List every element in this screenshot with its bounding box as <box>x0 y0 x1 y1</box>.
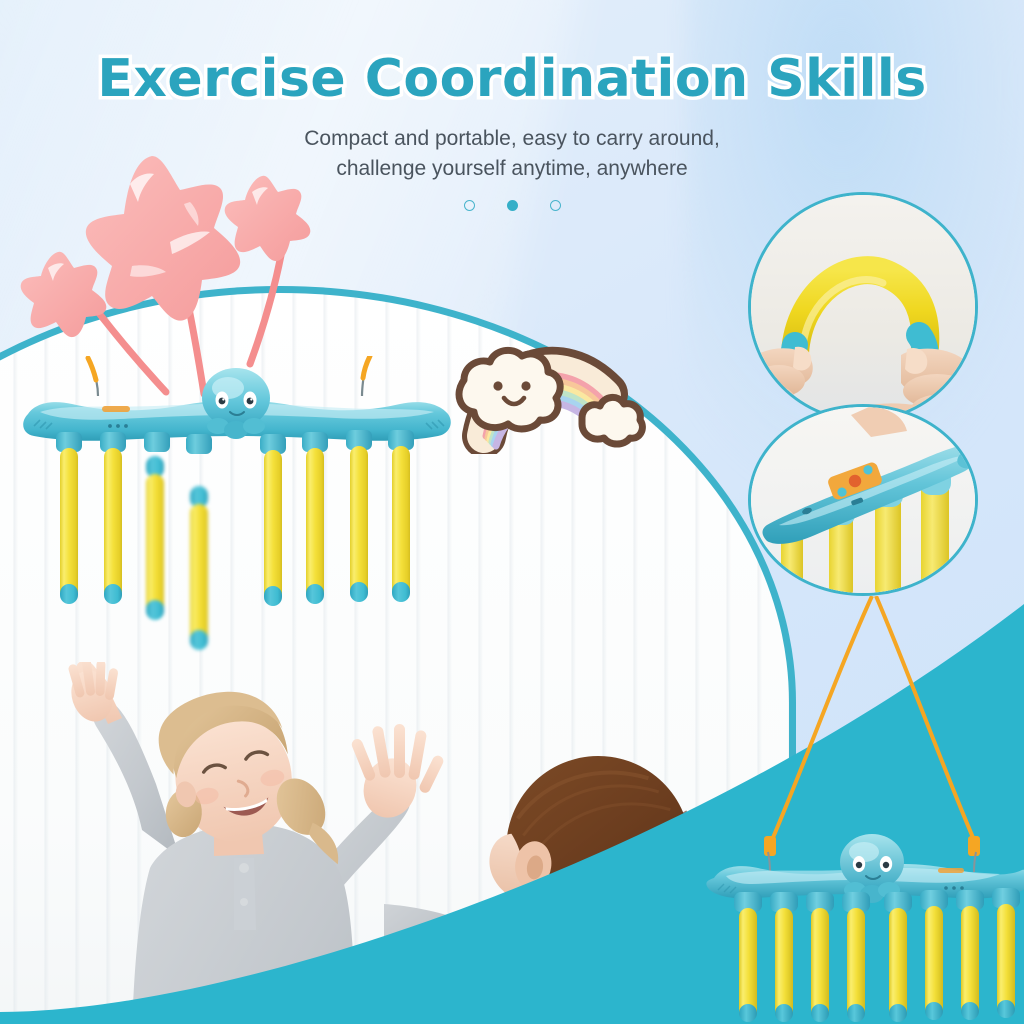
cord-clip-right <box>968 836 980 856</box>
carousel-dot-3[interactable] <box>550 200 561 211</box>
stick <box>350 446 368 602</box>
cloud-face <box>459 350 560 429</box>
small-star-left <box>21 252 107 337</box>
page-title: Exercise Coordination Skills <box>0 52 1024 107</box>
stick <box>884 892 912 1022</box>
stick <box>104 448 122 604</box>
stick <box>734 892 762 1022</box>
product-main-octopus-bar <box>14 356 464 676</box>
carousel-dot-1[interactable] <box>464 200 475 211</box>
stick <box>920 890 948 1020</box>
stick <box>306 448 324 604</box>
inset-flexible-stick <box>748 192 978 422</box>
stick <box>264 450 282 606</box>
carousel-dot-2[interactable] <box>507 200 518 211</box>
attached-sticks <box>60 446 410 606</box>
hanging-cords-full <box>772 596 974 840</box>
stick <box>392 446 410 602</box>
stick <box>842 892 870 1022</box>
octopus-mascot <box>202 368 270 439</box>
falling-sticks <box>146 456 208 650</box>
stick <box>60 448 78 604</box>
stick <box>956 890 984 1020</box>
big-star <box>86 156 240 321</box>
cord-clip-left <box>764 836 776 856</box>
stick <box>992 888 1020 1018</box>
rainbow-cloud-icon <box>436 336 651 454</box>
marketing-image-canvas: Exercise Coordination Skills Compact and… <box>0 0 1024 1024</box>
product-bottom-full <box>700 596 1024 1024</box>
sticks-full <box>734 888 1020 1022</box>
inset-control-panel <box>748 404 978 596</box>
stick <box>770 892 798 1022</box>
falling-stick <box>146 456 164 620</box>
cloud-small <box>582 397 642 444</box>
falling-stick <box>190 486 208 650</box>
small-star-right <box>225 176 311 261</box>
stick <box>806 892 834 1022</box>
